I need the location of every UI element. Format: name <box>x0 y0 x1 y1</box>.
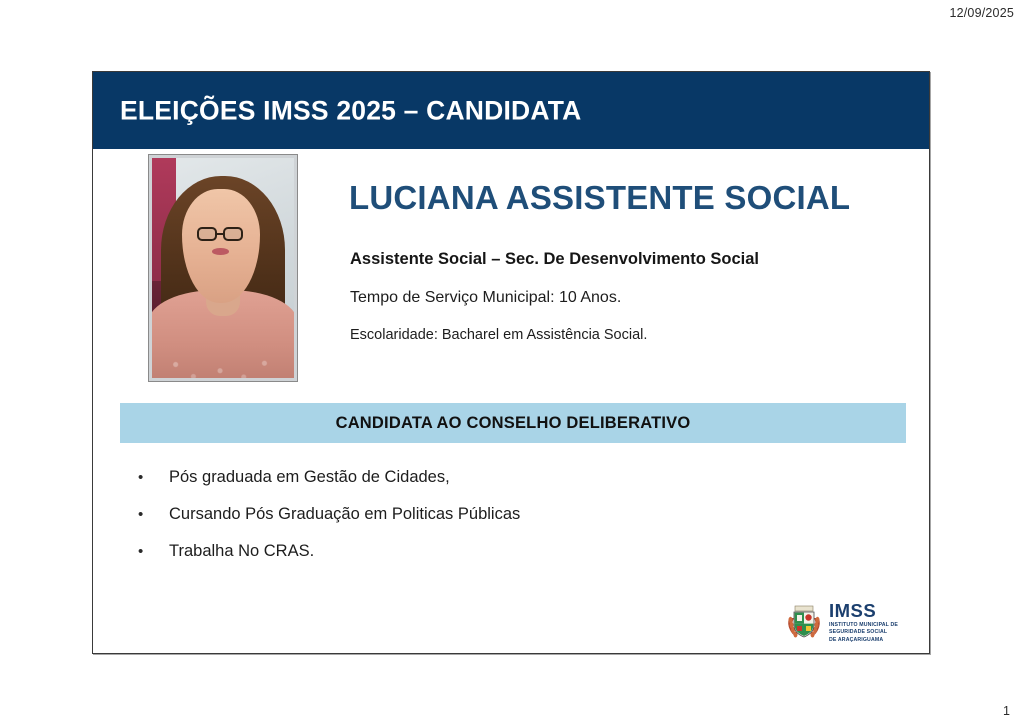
imss-logo-name: IMSS <box>829 602 898 621</box>
photo-glasses <box>197 227 242 242</box>
imss-logo: IMSS INSTITUTO MUNICIPAL DE SEGURIDADE S… <box>785 600 905 646</box>
imss-logo-subtitle-line2: SEGURIDADE SOCIAL <box>829 629 898 637</box>
council-banner: CANDIDATA AO CONSELHO DELIBERATIVO <box>120 403 906 443</box>
candidate-name: LUCIANA ASSISTENTE SOCIAL <box>349 179 850 217</box>
list-item: • Cursando Pós Graduação em Politicas Pú… <box>135 505 835 542</box>
slide-title: ELEIÇÕES IMSS 2025 – CANDIDATA <box>120 95 582 126</box>
candidate-education: Escolaridade: Bacharel em Assistência So… <box>350 327 647 343</box>
photo-glasses-bridge <box>217 233 223 236</box>
list-item-label: Trabalha No CRAS. <box>169 542 314 561</box>
candidate-role: Assistente Social – Sec. De Desenvolvime… <box>350 250 759 269</box>
imss-logo-subtitle-line1: INSTITUTO MUNICIPAL DE <box>829 622 898 630</box>
photo-lips <box>212 248 228 255</box>
qualifications-list: • Pós graduada em Gestão de Cidades, • C… <box>135 468 835 579</box>
bullet-icon: • <box>135 506 169 523</box>
imss-logo-subtitle-line3: DE ARAÇARIGUAMA <box>829 637 898 645</box>
slide-frame: ELEIÇÕES IMSS 2025 – CANDIDATA L <box>92 71 930 654</box>
photo-lace-texture <box>152 357 294 378</box>
imss-logo-subtitle: INSTITUTO MUNICIPAL DE SEGURIDADE SOCIAL… <box>829 622 898 645</box>
list-item: • Pós graduada em Gestão de Cidades, <box>135 468 835 505</box>
bullet-icon: • <box>135 469 169 486</box>
bullet-icon: • <box>135 543 169 560</box>
page-number: 1 <box>1003 704 1010 718</box>
candidate-photo <box>148 154 298 382</box>
slide-header-band: ELEIÇÕES IMSS 2025 – CANDIDATA <box>93 72 929 149</box>
list-item-label: Pós graduada em Gestão de Cidades, <box>169 468 450 487</box>
candidate-photo-image <box>152 158 294 378</box>
list-item: • Trabalha No CRAS. <box>135 542 835 579</box>
photo-glasses-left-lens <box>197 227 216 242</box>
list-item-label: Cursando Pós Graduação em Politicas Públ… <box>169 505 520 524</box>
document-date: 12/09/2025 <box>949 6 1014 20</box>
photo-glasses-right-lens <box>223 227 242 242</box>
candidate-service-time: Tempo de Serviço Municipal: 10 Anos. <box>350 289 621 307</box>
imss-wordmark: IMSS INSTITUTO MUNICIPAL DE SEGURIDADE S… <box>829 602 898 645</box>
coat-of-arms-icon <box>785 604 823 642</box>
council-banner-text: CANDIDATA AO CONSELHO DELIBERATIVO <box>336 414 691 433</box>
